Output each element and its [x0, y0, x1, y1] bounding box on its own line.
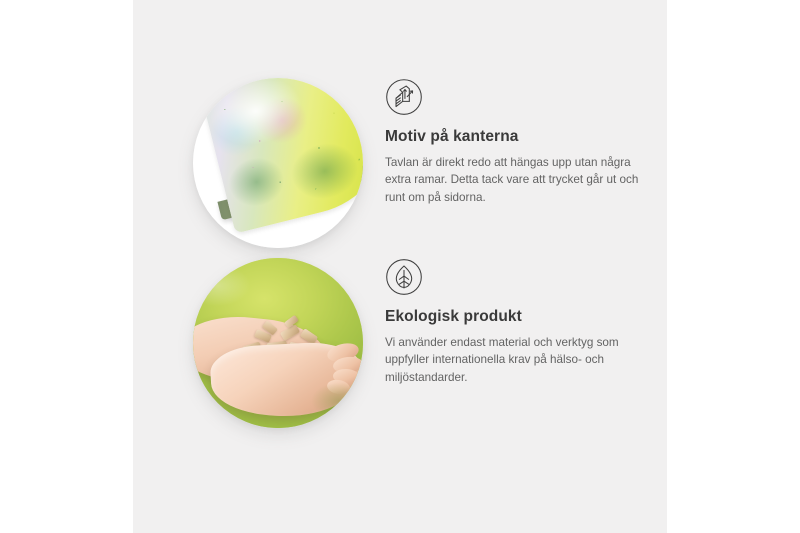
canvas-wrapped-edges-icon	[385, 78, 423, 116]
feature-image-wrapper	[193, 258, 363, 428]
finger-shape	[332, 355, 363, 374]
content-panel: Motiv på kanterna Tavlan är direkt redo …	[133, 0, 667, 533]
finger-shape	[333, 368, 361, 384]
canvas-print-corner-photo	[193, 78, 363, 248]
hand-front-shape	[209, 340, 363, 420]
feature-description: Vi använder endast material och verktyg …	[385, 334, 653, 387]
feature-image-wrapper	[193, 78, 363, 248]
finger-shape	[325, 340, 360, 364]
feature-block-ekologisk-produkt: Ekologisk produkt Vi använder endast mat…	[133, 258, 667, 443]
feature-block-motiv-pa-kanterna: Motiv på kanterna Tavlan är direkt redo …	[133, 78, 667, 263]
eco-photo-scene	[193, 258, 363, 428]
feature-text-column: Ekologisk produkt Vi använder endast mat…	[385, 258, 665, 387]
hand-back-shape	[193, 310, 330, 391]
product-feature-infographic: Motiv på kanterna Tavlan är direkt redo …	[0, 0, 800, 533]
feature-description: Tavlan är direkt redo att hängas upp uta…	[385, 154, 653, 207]
feature-title: Ekologisk produkt	[385, 308, 665, 327]
feature-title: Motiv på kanterna	[385, 128, 665, 147]
wood-chips-pile	[237, 318, 339, 376]
hands-holding-wood-chips-photo	[193, 258, 363, 428]
finger-shape	[326, 378, 351, 396]
canvas-photo-scene	[193, 78, 363, 248]
feature-text-column: Motiv på kanterna Tavlan är direkt redo …	[385, 78, 665, 207]
leaf-icon	[385, 258, 423, 296]
